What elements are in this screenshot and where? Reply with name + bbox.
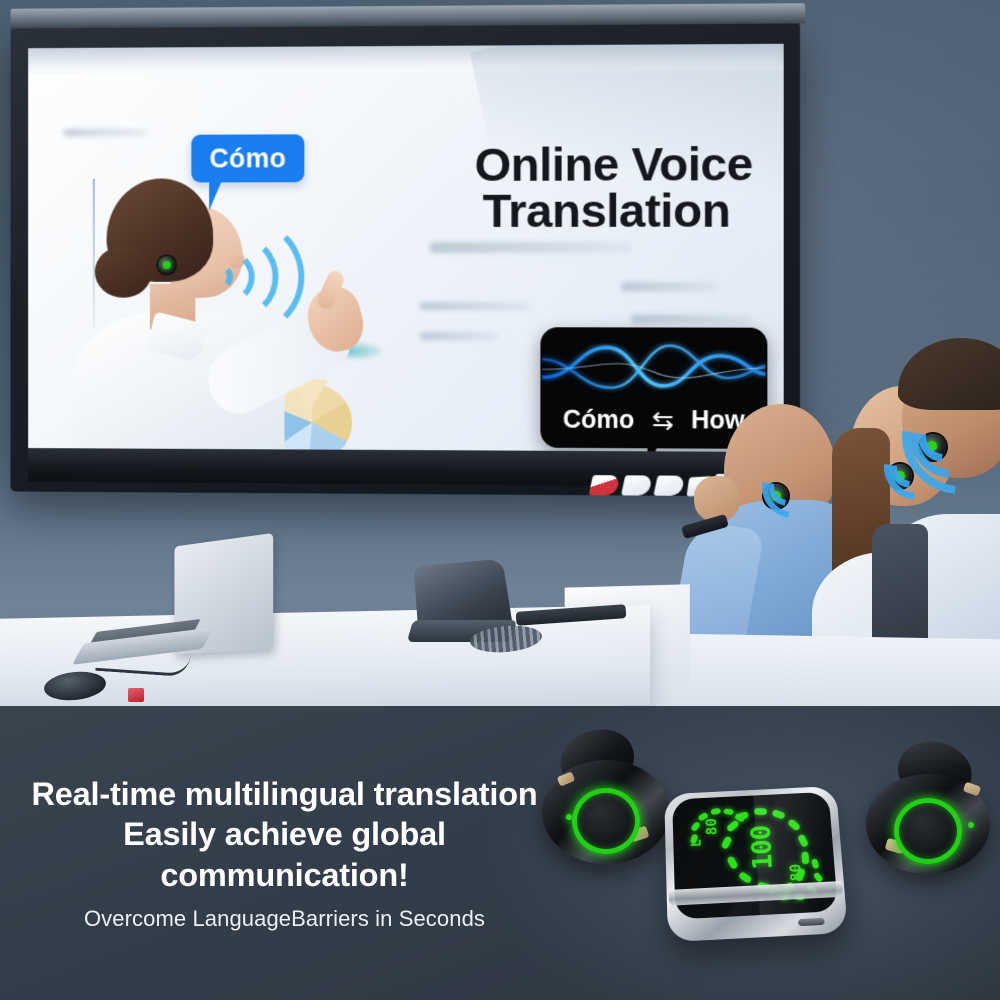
- product-banner: Real-time multilingual translation Easil…: [0, 706, 1000, 1000]
- translation-source: Cómo: [563, 406, 635, 435]
- page-title: Online Voice Translation: [442, 141, 784, 233]
- charging-case: 80 L 100: [664, 786, 848, 942]
- left-battery-value: 80: [702, 818, 720, 836]
- earbud-led-ring: [894, 798, 962, 864]
- presenter-hair-bun: [95, 246, 152, 298]
- left-earbud: [534, 730, 684, 870]
- speech-bubble-label: Cómo: [209, 143, 286, 174]
- sound-wave-icon: [189, 218, 304, 336]
- mock-text-line: [631, 314, 751, 323]
- whiteboard-screen: Online Voice Translation: [28, 44, 784, 452]
- interactive-whiteboard: Online Voice Translation: [11, 21, 801, 496]
- banner-headline-line-2: Easily achieve global communication!: [123, 816, 446, 892]
- earbud-icon: [158, 256, 176, 274]
- product-marketing-image: Online Voice Translation: [0, 0, 1000, 1000]
- mock-text-line: [420, 302, 530, 310]
- earbud-status-led: [566, 814, 572, 820]
- banner-headline: Real-time multilingual translation Easil…: [12, 774, 557, 895]
- usb-c-port-icon: [798, 918, 825, 926]
- mock-text-line: [430, 242, 631, 253]
- usb-drive-icon: [128, 688, 144, 702]
- white-marker-icon: [653, 476, 685, 496]
- earbud-status-led: [968, 822, 974, 828]
- center-battery-value: 100: [746, 825, 779, 871]
- sound-wave-icon: [540, 329, 767, 406]
- meeting-room-photo: Online Voice Translation: [0, 0, 1000, 706]
- headline-line-2: Translation: [428, 187, 784, 233]
- banner-copy: Real-time multilingual translation Easil…: [12, 774, 557, 932]
- whiteboard-top-edge: [11, 3, 806, 28]
- exchange-arrows-icon: ⇆: [652, 405, 674, 436]
- banner-subtitle: Overcome LanguageBarriers in Seconds: [12, 906, 557, 932]
- earbud-led-ring: [572, 788, 640, 854]
- banner-headline-line-1: Real-time multilingual translation: [31, 776, 537, 812]
- mock-text-line: [420, 332, 498, 340]
- right-earbud: [852, 748, 1000, 888]
- mock-text-line: [63, 129, 148, 136]
- speech-bubble-tail: [209, 180, 222, 210]
- mock-text-line: [621, 282, 718, 291]
- listener-hair: [716, 398, 838, 464]
- right-battery-value: 80: [786, 863, 805, 882]
- headline-line-1: Online Voice: [442, 141, 784, 188]
- white-marker-icon: [621, 475, 653, 495]
- speech-bubble: Cómo: [191, 134, 304, 182]
- left-battery-label: L: [690, 839, 705, 847]
- red-marker-icon: [589, 475, 621, 495]
